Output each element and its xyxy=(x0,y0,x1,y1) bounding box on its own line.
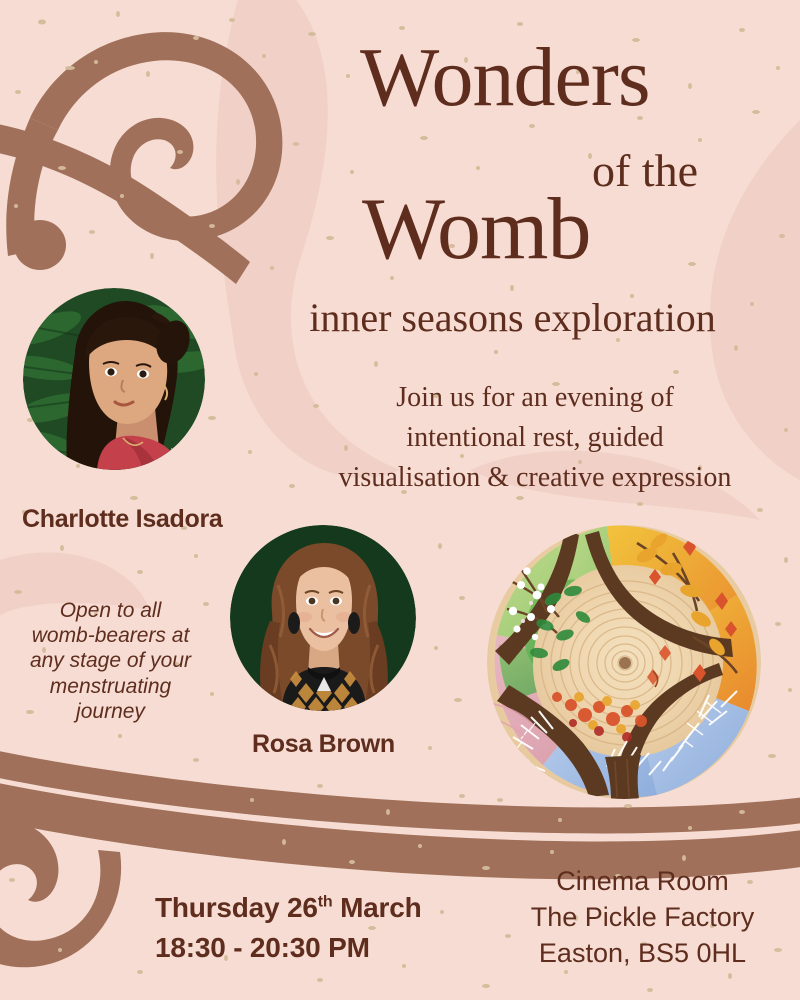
venue-area: Easton, BS5 0HL xyxy=(500,936,785,972)
venue-room: Cinema Room xyxy=(500,864,785,900)
four-seasons-tree-ring-illustration xyxy=(487,525,761,799)
poster-subtitle: inner seasons exploration xyxy=(240,296,785,340)
title-line-of-the: of the xyxy=(592,148,698,194)
title-line-womb: Womb xyxy=(362,188,590,272)
note-line: womb-bearers at xyxy=(8,623,213,648)
note-line: Open to all xyxy=(8,598,213,623)
portrait-charlotte-isadora xyxy=(23,288,205,470)
blurb-line: Join us for an evening of xyxy=(300,378,770,418)
portrait-rosa-brown xyxy=(230,525,416,711)
speaker-name-charlotte: Charlotte Isadora xyxy=(22,505,223,534)
venue-building: The Pickle Factory xyxy=(500,900,785,936)
event-date-month: March xyxy=(340,892,421,923)
poster-blurb: Join us for an evening of intentional re… xyxy=(300,378,770,497)
blurb-line: intentional rest, guided xyxy=(300,418,770,458)
event-time: 18:30 - 20:30 PM xyxy=(155,932,422,964)
note-line: menstruating xyxy=(8,674,213,699)
event-datetime: Thursday 26th March 18:30 - 20:30 PM xyxy=(155,892,422,964)
event-date-day: Thursday 26 xyxy=(155,892,318,923)
note-line: any stage of your xyxy=(8,648,213,673)
blurb-line: visualisation & creative expression xyxy=(300,458,770,498)
inclusivity-note: Open to all womb-bearers at any stage of… xyxy=(8,598,213,724)
event-poster: Wonders of the Womb inner seasons explor… xyxy=(0,0,800,1000)
title-line-wonders: Wonders xyxy=(360,38,650,118)
speaker-name-rosa: Rosa Brown xyxy=(252,730,395,759)
event-date-ordinal: th xyxy=(318,894,333,911)
event-venue: Cinema Room The Pickle Factory Easton, B… xyxy=(500,864,785,972)
poster-title: Wonders of the Womb xyxy=(330,38,770,298)
event-date: Thursday 26th March xyxy=(155,892,422,924)
note-line: journey xyxy=(8,699,213,724)
